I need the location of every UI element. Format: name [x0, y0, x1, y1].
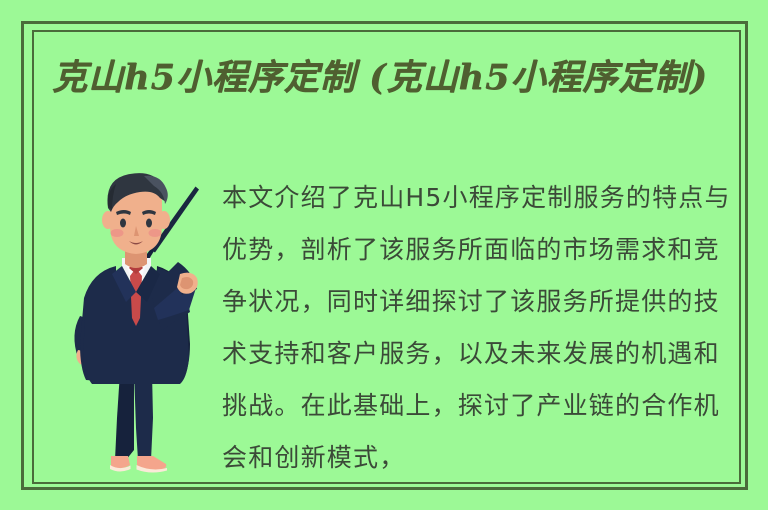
- poster-canvas: 克山h5小程序定制 (克山h5小程序定制) 本文介绍了克山H5小程序定制服务的特…: [0, 0, 768, 510]
- right-cheek: [149, 229, 162, 237]
- teacher-illustration-svg: [56, 168, 231, 474]
- shoes: [110, 456, 167, 473]
- left-trouser: [115, 372, 134, 460]
- right-trouser: [134, 372, 153, 460]
- right-eye: [146, 219, 152, 228]
- page-title: 克山h5小程序定制 (克山h5小程序定制): [52, 56, 712, 100]
- left-eye: [120, 219, 126, 228]
- article-body-text: 本文介绍了克山H5小程序定制服务的特点与优势，剖析了该服务所面临的市场需求和竞争…: [222, 172, 732, 484]
- left-cheek: [111, 229, 124, 237]
- teacher-illustration: [56, 168, 231, 474]
